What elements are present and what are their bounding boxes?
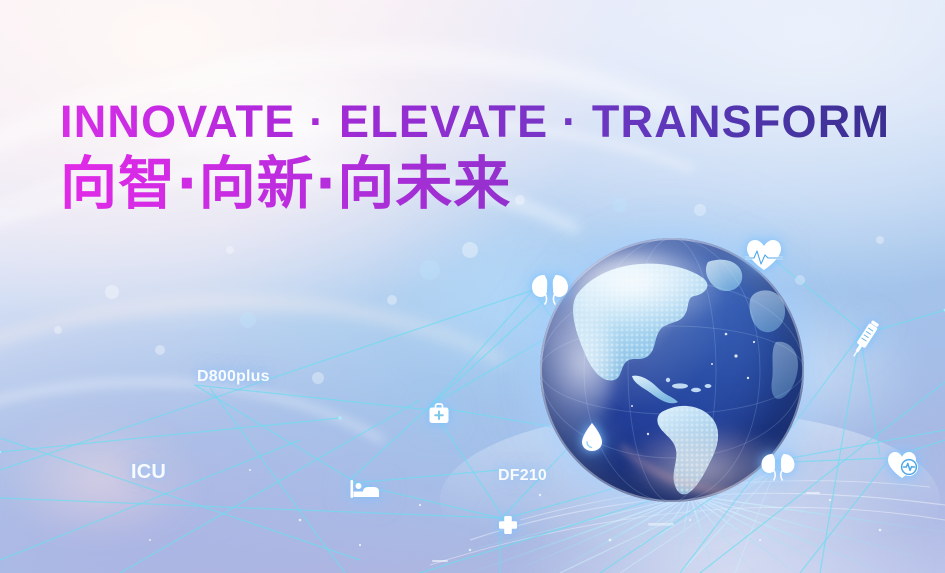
hospital-bed-icon (350, 479, 380, 499)
label-d800plus: D800plus (197, 368, 270, 386)
label-icu: ICU (131, 461, 166, 484)
syringe-icon (841, 313, 889, 365)
headline-english: INNOVATE · ELEVATE · TRANSFORM (60, 98, 890, 145)
light-glow (0, 420, 200, 540)
hero-banner: D800plus ICU DF210 INNOVATE · ELEVATE · … (0, 0, 945, 573)
kidneys-icon (760, 452, 796, 482)
heart-monitor-icon (886, 450, 920, 480)
headline-block: INNOVATE · ELEVATE · TRANSFORM 向智·向新·向未来 (60, 98, 890, 217)
medical-cross-icon (498, 515, 518, 535)
medical-kit-icon (428, 403, 450, 424)
light-arc (0, 356, 486, 573)
heart-pulse-icon (745, 238, 783, 272)
kidneys-icon (530, 272, 570, 306)
label-df210: DF210 (498, 467, 547, 485)
headline-chinese: 向智·向新·向未来 (60, 153, 890, 217)
water-drop-icon (580, 422, 604, 452)
